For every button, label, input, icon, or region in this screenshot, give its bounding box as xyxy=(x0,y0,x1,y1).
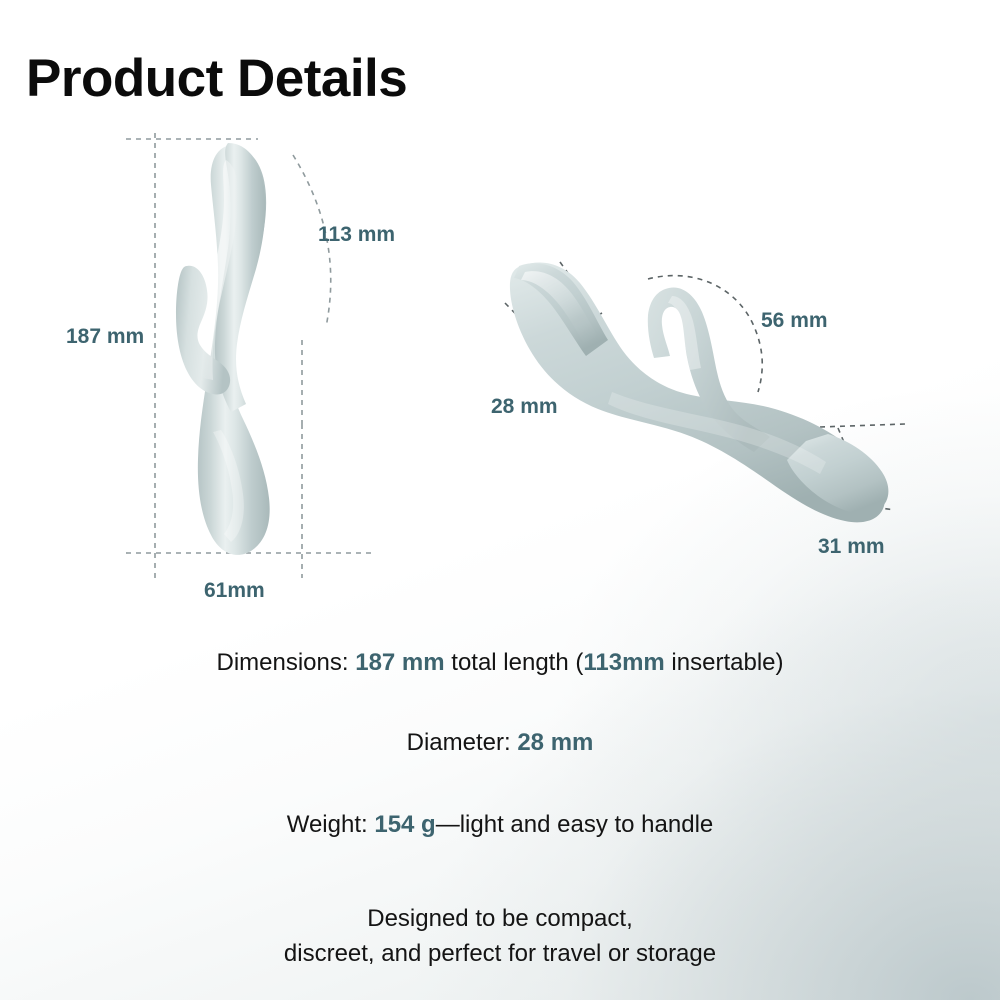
spec-dimensions-total-length: 187 mm xyxy=(355,649,444,676)
dimension-label-187mm: 187 mm xyxy=(66,326,144,347)
spec-diameter-value: 28 mm xyxy=(517,729,593,756)
spec-weight: Weight: 154 g—light and easy to handle xyxy=(0,810,1000,840)
spec-diameter: Diameter: 28 mm xyxy=(0,728,1000,758)
spec-tagline-line-2: discreet, and perfect for travel or stor… xyxy=(0,937,1000,972)
spec-dimensions-suffix: insertable) xyxy=(665,649,784,676)
dimension-label-28mm: 28 mm xyxy=(491,396,558,417)
guide-31-upper xyxy=(820,424,905,427)
product-details-infographic: Product Details xyxy=(0,0,1000,1000)
spec-dimensions-insertable: 113mm xyxy=(583,649,664,676)
spec-weight-prefix: Weight: xyxy=(287,811,375,838)
dimension-label-56mm: 56 mm xyxy=(761,310,828,331)
dimension-label-31mm: 31 mm xyxy=(818,536,885,557)
spec-tagline-line-1: Designed to be compact, xyxy=(0,902,1000,937)
spec-tagline: Designed to be compact, discreet, and pe… xyxy=(0,902,1000,972)
dimension-label-61mm: 61mm xyxy=(204,580,265,601)
right-product-illustration xyxy=(510,262,888,522)
specs-block: Dimensions: 187 mm total length (113mm i… xyxy=(0,648,1000,972)
left-product-illustration xyxy=(176,143,270,555)
dimension-label-113mm: 113 mm xyxy=(318,224,395,245)
spec-diameter-prefix: Diameter: xyxy=(407,729,518,756)
spec-dimensions-prefix: Dimensions: xyxy=(217,649,356,676)
spec-dimensions: Dimensions: 187 mm total length (113mm i… xyxy=(0,648,1000,678)
product-diagrams xyxy=(0,0,1000,660)
spec-weight-value: 154 g xyxy=(374,811,435,838)
spec-dimensions-middle: total length ( xyxy=(445,649,584,676)
spec-weight-suffix: —light and easy to handle xyxy=(436,811,714,838)
